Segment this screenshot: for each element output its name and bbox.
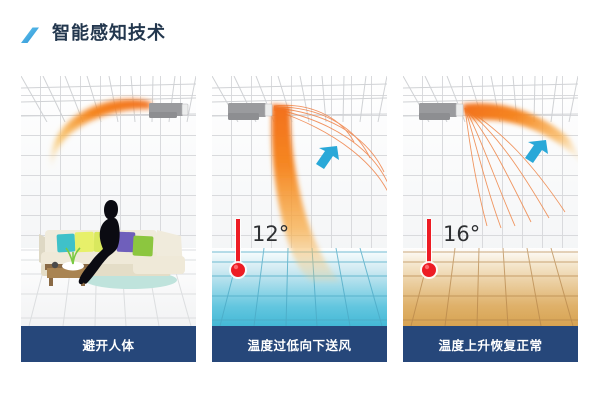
panel-caption-bar: 温度过低向下送风: [212, 326, 387, 362]
temperature-label: 16°: [443, 222, 480, 246]
thermometer-icon: [417, 216, 443, 284]
air-conditioner-unit: [228, 102, 276, 126]
down-left-arrow-icon: [308, 142, 342, 176]
slash-icon: [20, 25, 40, 45]
panel-caption-bar: 温度上升恢复正常: [403, 326, 578, 362]
scene-avoid-body: [21, 76, 196, 326]
panel-caption-bar: 避开人体: [21, 326, 196, 362]
panel-low-temp-downward[interactable]: 12° 温度过低向下送风: [212, 76, 387, 362]
air-conditioner-unit: [419, 102, 467, 126]
page-header: 智能感知技术: [0, 0, 600, 62]
panel-row: 避开人体: [0, 62, 600, 362]
down-left-arrow-icon: [517, 136, 551, 170]
panel-avoid-body[interactable]: 避开人体: [21, 76, 196, 362]
panel-temp-rise-normal[interactable]: 16° 温度上升恢复正常: [403, 76, 578, 362]
panel-caption-label: 温度上升恢复正常: [438, 335, 542, 354]
scene-low-temp: 12°: [212, 76, 387, 326]
panel-caption-label: 温度过低向下送风: [247, 335, 351, 354]
scene-temp-rise: 16°: [403, 76, 578, 326]
air-conditioner-unit: [149, 102, 193, 124]
living-room-furniture: [21, 194, 196, 290]
temperature-label: 12°: [252, 222, 289, 246]
panel-caption-label: 避开人体: [82, 335, 134, 354]
thermometer-icon: [226, 216, 252, 284]
page-title: 智能感知技术: [52, 20, 166, 48]
